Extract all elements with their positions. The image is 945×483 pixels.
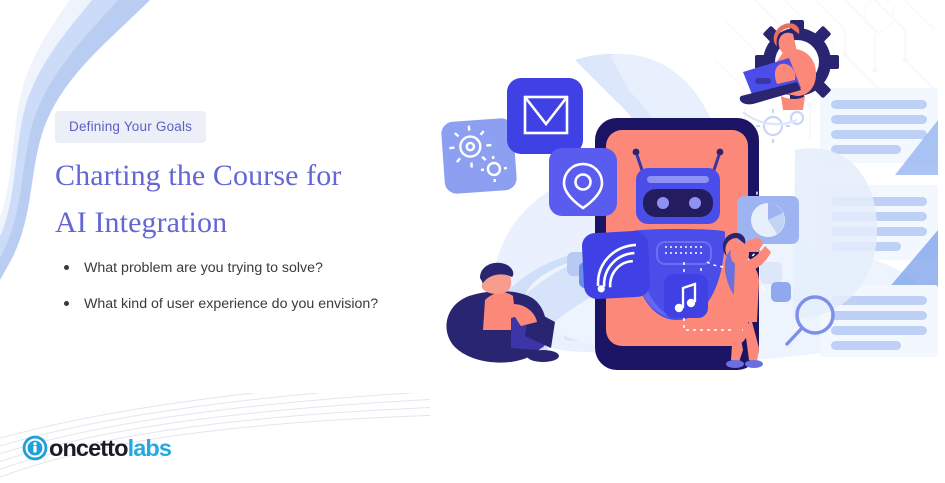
- bullet-list: What problem are you trying to solve? Wh…: [58, 258, 403, 329]
- slide-canvas: Defining Your Goals Charting the Course …: [0, 0, 945, 483]
- music-note-tile: [664, 274, 708, 318]
- wifi-tile: [581, 230, 650, 299]
- list-item: What problem are you trying to solve?: [58, 258, 403, 279]
- logo-word-light: labs: [128, 435, 171, 461]
- logo-wordmark: oncettolabs: [49, 435, 171, 461]
- list-item: What kind of user experience do you envi…: [58, 294, 403, 315]
- page-title: Charting the Course for AI Integration: [55, 152, 445, 246]
- ai-integration-illustration: [425, 0, 945, 420]
- pie-chart-icon: [751, 203, 785, 237]
- location-pin-tile: [549, 148, 617, 216]
- pie-chart-card: [737, 196, 799, 244]
- envelope-tile: [507, 78, 583, 154]
- eyebrow-badge: Defining Your Goals: [55, 111, 206, 143]
- headline-line-2: AI Integration: [55, 206, 227, 239]
- list-item-label: What kind of user experience do you envi…: [84, 296, 378, 312]
- bullet-dot-icon: [64, 301, 69, 306]
- concetto-circle-logo-icon: [22, 435, 48, 461]
- text-content: Defining Your Goals Charting the Course …: [55, 0, 455, 483]
- headline-line-1: Charting the Course for: [55, 159, 341, 192]
- list-item-label: What problem are you trying to solve?: [84, 260, 323, 276]
- logo-word-dark: oncetto: [49, 435, 128, 461]
- brand-logo: oncettolabs: [22, 433, 171, 463]
- small-gears: [756, 109, 803, 143]
- bullet-dot-icon: [64, 265, 69, 270]
